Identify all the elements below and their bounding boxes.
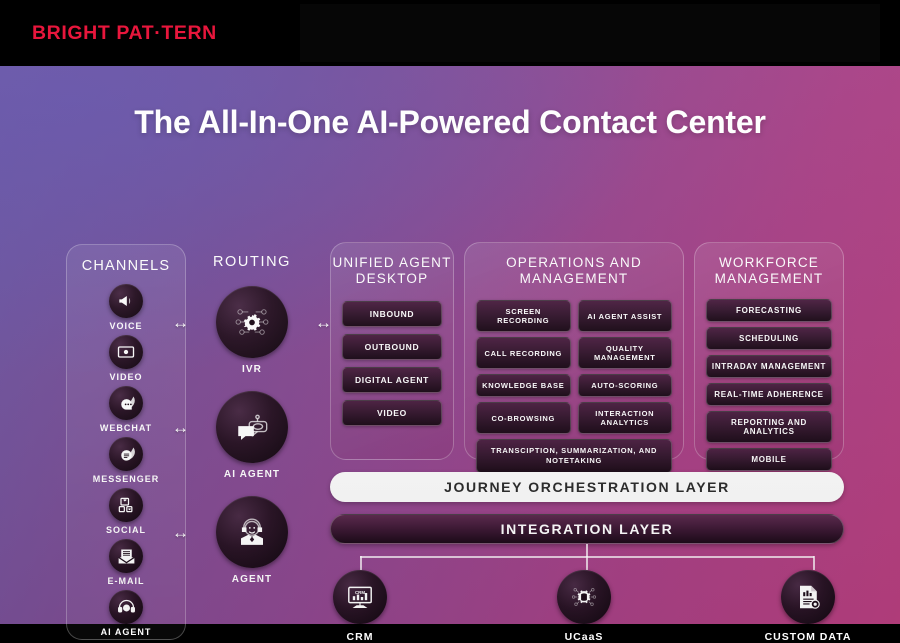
uad-chip-outbound[interactable]: OUTBOUND	[342, 334, 442, 360]
channel-item-social[interactable]: SOCIAL	[67, 488, 185, 535]
wfm-chip-intraday-management[interactable]: INTRADAY MANAGEMENT	[706, 355, 832, 378]
routing-label: AGENT	[196, 574, 308, 585]
brand-logo: BRIGHT PAT·TERN	[32, 22, 217, 45]
channel-label: E-MAIL	[67, 576, 185, 586]
channels-list: VOICE VIDEO WEBCHAT	[67, 284, 185, 637]
wfm-chip-reporting-and-analytics[interactable]: REPORTING AND ANALYTICS	[706, 411, 832, 443]
integration-node-custom-data[interactable]: CUSTOM DATA	[748, 570, 868, 643]
ops-chip-call-recording[interactable]: CALL RECORDING	[476, 337, 571, 369]
connector-drop-left	[360, 556, 362, 570]
wfm-chip-mobile[interactable]: MOBILE	[706, 448, 832, 471]
operations-title: OPERATIONS AND MANAGEMENT	[465, 255, 683, 287]
megaphone-icon	[109, 284, 143, 318]
wfm-chip-scheduling[interactable]: SCHEDULING	[706, 327, 832, 350]
svg-text:CRM: CRM	[355, 590, 365, 595]
ops-chip-transcription-summarization-notetaking[interactable]: TRANSCIPTION, SUMMARIZATION, AND NOTETAK…	[476, 439, 672, 473]
unified-agent-desktop-panel: UNIFIED AGENT DESKTOP INBOUND OUTBOUND D…	[330, 242, 454, 460]
channel-label: SOCIAL	[67, 525, 185, 535]
uad-chip-inbound[interactable]: INBOUND	[342, 301, 442, 327]
operations-grid: SCREEN RECORDING AI AGENT ASSIST CALL RE…	[465, 300, 683, 434]
top-bar-panel	[300, 4, 880, 62]
agent-person-icon	[216, 496, 288, 568]
channel-item-video[interactable]: VIDEO	[67, 335, 185, 382]
monitor-chart-icon: CRM	[333, 570, 387, 624]
ops-chip-interaction-analytics[interactable]: INTERACTION ANALYTICS	[578, 402, 673, 434]
journey-orchestration-layer-bar[interactable]: JOURNEY ORCHESTRATION LAYER	[330, 472, 844, 502]
gear-network-icon	[216, 286, 288, 358]
unified-agent-desktop-list: INBOUND OUTBOUND DIGITAL AGENT VIDEO	[331, 301, 453, 426]
unified-agent-desktop-title: UNIFIED AGENT DESKTOP	[331, 255, 453, 287]
integration-node-label: CUSTOM DATA	[748, 631, 868, 643]
uad-chip-digital-agent[interactable]: DIGITAL AGENT	[342, 367, 442, 393]
server-gear-icon	[557, 570, 611, 624]
ops-chip-knowledge-base[interactable]: KNOWLEDGE BASE	[476, 374, 571, 397]
channel-label: AI AGENT	[67, 627, 185, 637]
page-title: The All-In-One AI-Powered Contact Center	[0, 104, 900, 141]
channel-label: WEBCHAT	[67, 423, 185, 433]
operations-panel: OPERATIONS AND MANAGEMENT SCREEN RECORDI…	[464, 242, 684, 460]
routing-item-agent[interactable]: ↔ AGENT	[196, 496, 308, 585]
wfm-chip-forecasting[interactable]: FORECASTING	[706, 299, 832, 322]
channels-title: CHANNELS	[67, 258, 185, 274]
channel-item-webchat[interactable]: WEBCHAT	[67, 386, 185, 433]
channel-item-voice[interactable]: VOICE	[67, 284, 185, 331]
routing-item-ai-agent[interactable]: ↔ AI AGENT	[196, 391, 308, 480]
arrow-left-icon: ↔	[172, 419, 189, 436]
video-icon	[109, 335, 143, 369]
integration-node-label: UCaaS	[524, 631, 644, 643]
routing-item-ivr[interactable]: ↔ ↔ IVR	[196, 286, 308, 375]
channels-panel: CHANNELS VOICE VIDEO	[66, 244, 186, 640]
envelope-icon	[109, 539, 143, 573]
chat-bubble-icon	[109, 386, 143, 420]
channel-item-ai-agent[interactable]: AI AGENT	[67, 590, 185, 637]
ops-chip-co-browsing[interactable]: CO-BROWSING	[476, 402, 571, 434]
workforce-management-panel: WORKFORCE MANAGEMENT FORECASTING SCHEDUL…	[694, 242, 844, 460]
messenger-bubble-icon	[109, 437, 143, 471]
routing-label: AI AGENT	[196, 469, 308, 480]
bot-chat-icon	[216, 391, 288, 463]
integration-node-crm[interactable]: CRM CRM	[300, 570, 420, 643]
uad-chip-video[interactable]: VIDEO	[342, 400, 442, 426]
channel-label: MESSENGER	[67, 474, 185, 484]
routing-label: IVR	[196, 364, 308, 375]
routing-column: ROUTING ↔ ↔ IVR ↔	[196, 254, 308, 629]
arrow-left-icon: ↔	[172, 524, 189, 541]
headset-bot-icon	[109, 590, 143, 624]
ops-chip-ai-agent-assist[interactable]: AI AGENT ASSIST	[578, 300, 673, 332]
connector-drop-center	[586, 556, 588, 570]
ops-chip-screen-recording[interactable]: SCREEN RECORDING	[476, 300, 571, 332]
arrow-left-icon: ↔	[172, 314, 189, 331]
operations-wide-row: TRANSCIPTION, SUMMARIZATION, AND NOTETAK…	[465, 439, 683, 473]
social-heart-icon	[109, 488, 143, 522]
channel-item-email[interactable]: E-MAIL	[67, 539, 185, 586]
wfm-chip-real-time-adherence[interactable]: REAL-TIME ADHERENCE	[706, 383, 832, 406]
workforce-management-title: WORKFORCE MANAGEMENT	[695, 255, 843, 287]
ops-chip-auto-scoring[interactable]: AUTO-SCORING	[578, 374, 673, 397]
channel-label: VIDEO	[67, 372, 185, 382]
slide-canvas: The All-In-One AI-Powered Contact Center…	[0, 66, 900, 624]
ops-chip-quality-management[interactable]: QUALITY MANAGEMENT	[578, 337, 673, 369]
integration-node-label: CRM	[300, 631, 420, 643]
integration-node-ucaas[interactable]: UCaaS	[524, 570, 644, 643]
document-chart-icon	[781, 570, 835, 624]
integration-layer-bar[interactable]: INTEGRATION LAYER	[330, 514, 844, 544]
connector-drop-right	[813, 556, 815, 570]
workforce-management-list: FORECASTING SCHEDULING INTRADAY MANAGEME…	[695, 299, 843, 471]
routing-title: ROUTING	[196, 254, 308, 270]
channel-item-messenger[interactable]: MESSENGER	[67, 437, 185, 484]
channel-label: VOICE	[67, 321, 185, 331]
top-bar: BRIGHT PAT·TERN	[0, 0, 900, 66]
